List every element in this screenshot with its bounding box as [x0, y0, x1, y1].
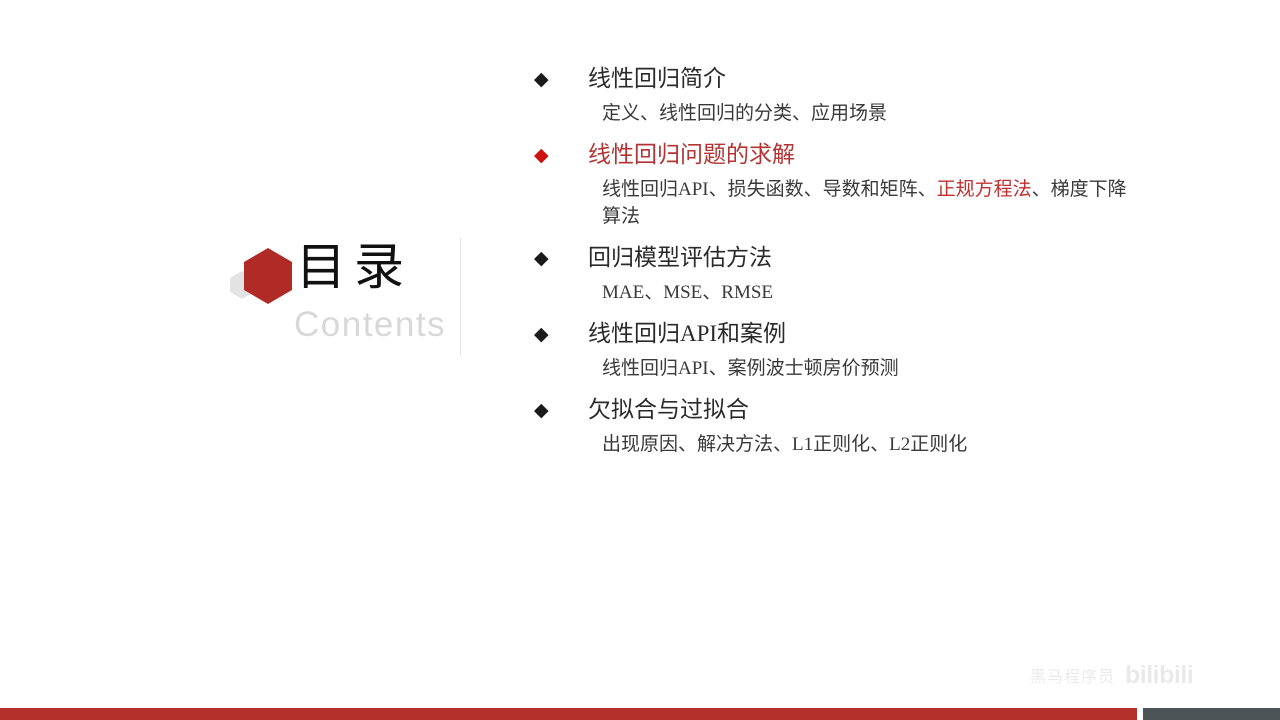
toc-item-heading: 回归模型评估方法 [588, 241, 772, 275]
toc-subtext-part: 出现原因、解决方法、L1正则化、L2正则化 [602, 434, 967, 455]
diamond-bullet-icon: ◆ [534, 138, 550, 172]
slide-canvas: 目录 Contents ◆ 线性回归简介 定义、线性回归的分类、应用场景 ◆ 线… [0, 0, 1280, 720]
diamond-bullet-icon: ◆ [534, 317, 550, 351]
toc-item-heading: 线性回归API和案例 [588, 317, 786, 351]
bottom-accent-bar [0, 708, 1137, 720]
toc-item-head: ◆ 回归模型评估方法 [534, 241, 1154, 276]
toc-item-head: ◆ 线性回归问题的求解 [534, 138, 1154, 173]
toc-subtext-highlight: 正规方程法 [937, 179, 1032, 200]
toc-item-head: ◆ 线性回归简介 [534, 62, 1154, 97]
toc-item-subtext: MAE、MSE、RMSE [602, 279, 1142, 306]
toc-subtext-part: 线性回归API、损失函数、导数和矩阵、 [602, 179, 937, 200]
toc-item-head: ◆ 欠拟合与过拟合 [534, 393, 1154, 428]
page-title-en: Contents [294, 304, 446, 346]
toc-item-subtext: 定义、线性回归的分类、应用场景 [602, 100, 1142, 127]
toc-item-head: ◆ 线性回归API和案例 [534, 317, 1154, 352]
diamond-bullet-icon: ◆ [534, 241, 550, 275]
toc-subtext-part: 定义、线性回归的分类、应用场景 [602, 103, 887, 124]
bottom-accent-bar-dark [1143, 708, 1280, 720]
diamond-bullet-icon: ◆ [534, 62, 550, 96]
toc-item-heading: 线性回归简介 [588, 62, 726, 96]
watermark: 黑马程序员 bilibili [1030, 658, 1265, 692]
toc-item[interactable]: ◆ 欠拟合与过拟合 出现原因、解决方法、L1正则化、L2正则化 [534, 393, 1154, 458]
hexagon-logo-svg [222, 246, 300, 308]
slide-title-block: 目录 Contents [222, 238, 462, 358]
toc-subtext-part: MAE、MSE、RMSE [602, 282, 773, 303]
hexagon-red-shape [244, 248, 292, 304]
page-title-cn: 目录 [296, 238, 412, 296]
watermark-text: 黑马程序员 [1030, 663, 1115, 687]
toc-item-heading: 线性回归问题的求解 [588, 138, 795, 172]
toc-item-subtext: 出现原因、解决方法、L1正则化、L2正则化 [602, 431, 1142, 458]
diamond-bullet-icon: ◆ [534, 393, 550, 427]
toc-item-active[interactable]: ◆ 线性回归问题的求解 线性回归API、损失函数、导数和矩阵、正规方程法、梯度下… [534, 138, 1154, 230]
toc-subtext-part: 线性回归API、案例波士顿房价预测 [602, 358, 899, 379]
toc-item[interactable]: ◆ 线性回归简介 定义、线性回归的分类、应用场景 [534, 62, 1154, 127]
table-of-contents: ◆ 线性回归简介 定义、线性回归的分类、应用场景 ◆ 线性回归问题的求解 线性回… [534, 62, 1154, 458]
bilibili-logo-watermark: bilibili [1125, 661, 1193, 690]
toc-item-subtext: 线性回归API、损失函数、导数和矩阵、正规方程法、梯度下降算法 [602, 176, 1142, 230]
hexagon-logo [222, 246, 300, 308]
vertical-divider [460, 238, 461, 356]
toc-item[interactable]: ◆ 回归模型评估方法 MAE、MSE、RMSE [534, 241, 1154, 306]
toc-item[interactable]: ◆ 线性回归API和案例 线性回归API、案例波士顿房价预测 [534, 317, 1154, 382]
toc-item-heading: 欠拟合与过拟合 [588, 393, 749, 427]
toc-item-subtext: 线性回归API、案例波士顿房价预测 [602, 355, 1142, 382]
